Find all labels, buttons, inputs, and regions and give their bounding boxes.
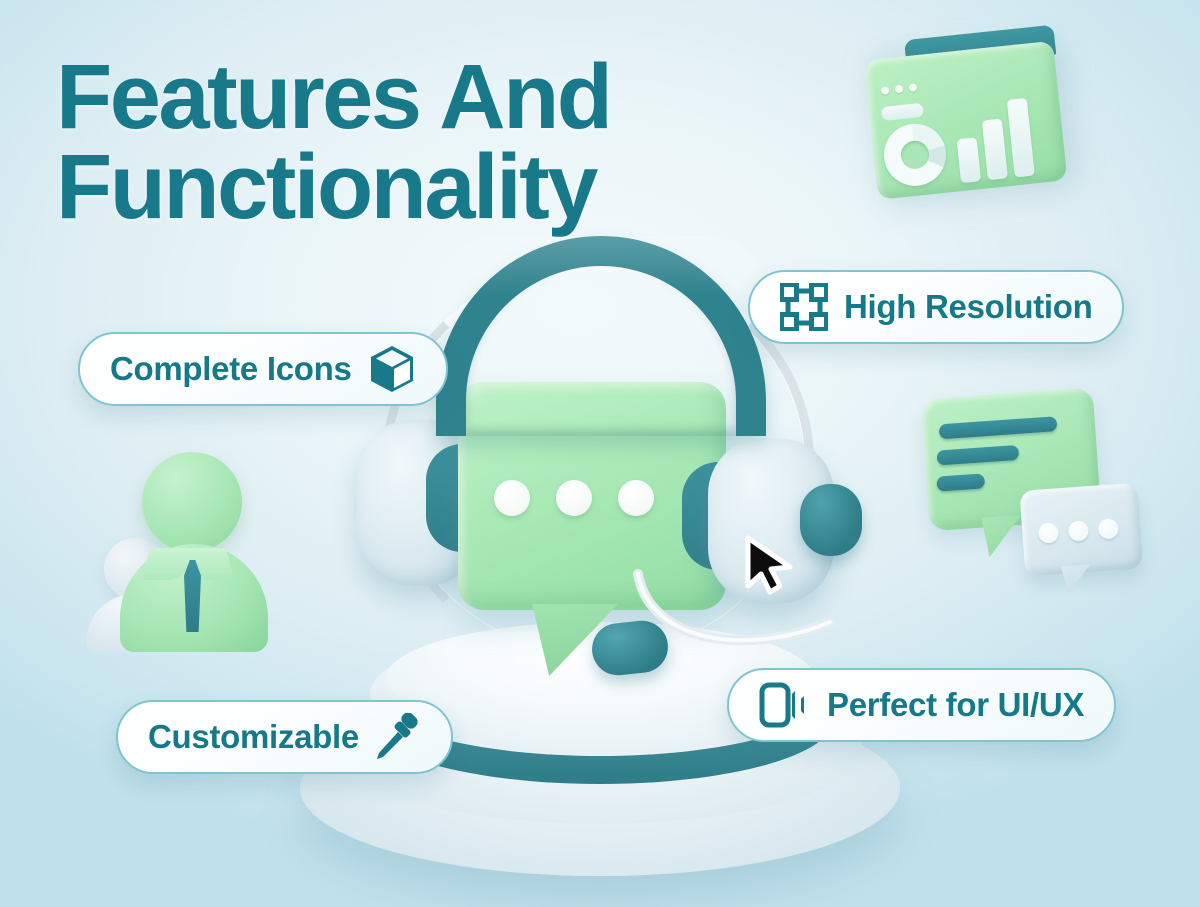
- transform-frame-icon: [780, 283, 828, 331]
- headset-headband-pad: [436, 236, 766, 436]
- front-user-head: [142, 452, 242, 552]
- analytics-dashboard-icon: [858, 20, 1079, 209]
- pill-label: Complete Icons: [110, 350, 352, 388]
- cube-icon: [368, 344, 416, 394]
- pill-customizable[interactable]: Customizable: [116, 700, 453, 774]
- page-title: Features And Functionality: [56, 52, 610, 232]
- speech-bubble-dot: [494, 480, 530, 516]
- poster-canvas: Features And Functionality: [0, 0, 1200, 907]
- donut-chart: [881, 121, 949, 189]
- speech-bubble-dot: [556, 480, 592, 516]
- users-group-icon: [88, 452, 298, 652]
- pill-high-resolution[interactable]: High Resolution: [748, 270, 1124, 344]
- pill-label: Customizable: [148, 718, 359, 756]
- pill-label: High Resolution: [844, 288, 1092, 326]
- bar-chart: [953, 96, 1035, 183]
- mouse-cursor-icon: [742, 534, 798, 601]
- window-dots: [881, 83, 918, 95]
- chat-bubbles-icon: [921, 385, 1145, 611]
- headset-volume-knob: [800, 484, 862, 556]
- eyedropper-icon: [375, 713, 421, 761]
- dashboard-window-body: [864, 41, 1068, 200]
- blue-typing-bubble: [1019, 483, 1143, 577]
- card-swipe-icon: [759, 681, 811, 729]
- pill-complete-icons[interactable]: Complete Icons: [78, 332, 448, 406]
- pill-label: Perfect for UI/UX: [827, 686, 1084, 724]
- front-user-necktie: [184, 560, 201, 632]
- dashboard-search-bar: [881, 103, 924, 121]
- speech-bubble-dot: [618, 480, 654, 516]
- pill-perfect-uiux[interactable]: Perfect for UI/UX: [727, 668, 1116, 742]
